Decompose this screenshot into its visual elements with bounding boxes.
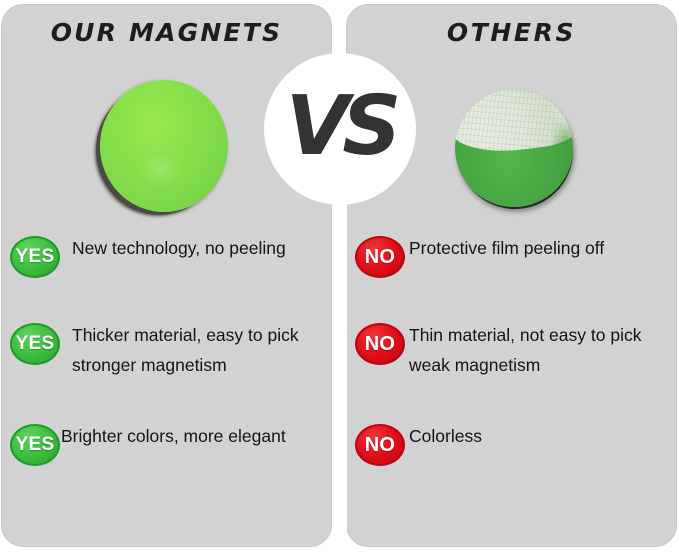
yes-badge: YES bbox=[10, 424, 60, 466]
feature-text: Protective film peeling off bbox=[409, 233, 604, 263]
panel-divider bbox=[333, 190, 347, 550]
green-magnet-disc-icon bbox=[100, 80, 228, 212]
comparison-infographic: OUR MAGNETS YES New technology, no peeli… bbox=[0, 0, 679, 558]
vs-label: VS bbox=[286, 86, 395, 168]
yes-badge: YES bbox=[10, 323, 60, 365]
list-item: NO Protective film peeling off bbox=[355, 233, 672, 278]
feature-text: Thin material, not easy to pick weak mag… bbox=[409, 320, 641, 380]
left-panel-title: OUR MAGNETS bbox=[2, 18, 331, 47]
no-badge: NO bbox=[355, 236, 405, 278]
list-item: YES New technology, no peeling bbox=[10, 233, 327, 278]
right-panel-title: OTHERS bbox=[347, 18, 676, 47]
feature-text: Colorless bbox=[409, 421, 482, 451]
list-item: NO Thin material, not easy to pick weak … bbox=[355, 320, 672, 380]
no-badge: NO bbox=[355, 323, 405, 365]
list-item: YES Thicker material, easy to pick stron… bbox=[10, 320, 327, 380]
vs-badge: VS bbox=[264, 53, 416, 205]
feature-text: New technology, no peeling bbox=[72, 233, 286, 263]
feature-text: Thicker material, easy to pick stronger … bbox=[72, 320, 299, 380]
feature-text: Brighter colors, more elegant bbox=[61, 421, 286, 451]
list-item: YES Brighter colors, more elegant bbox=[10, 421, 327, 466]
peeling-film-icon bbox=[455, 89, 573, 158]
peeling-magnet-disc-icon bbox=[455, 89, 573, 207]
list-item: NO Colorless bbox=[355, 421, 672, 466]
yes-badge: YES bbox=[10, 236, 60, 278]
no-badge: NO bbox=[355, 424, 405, 466]
